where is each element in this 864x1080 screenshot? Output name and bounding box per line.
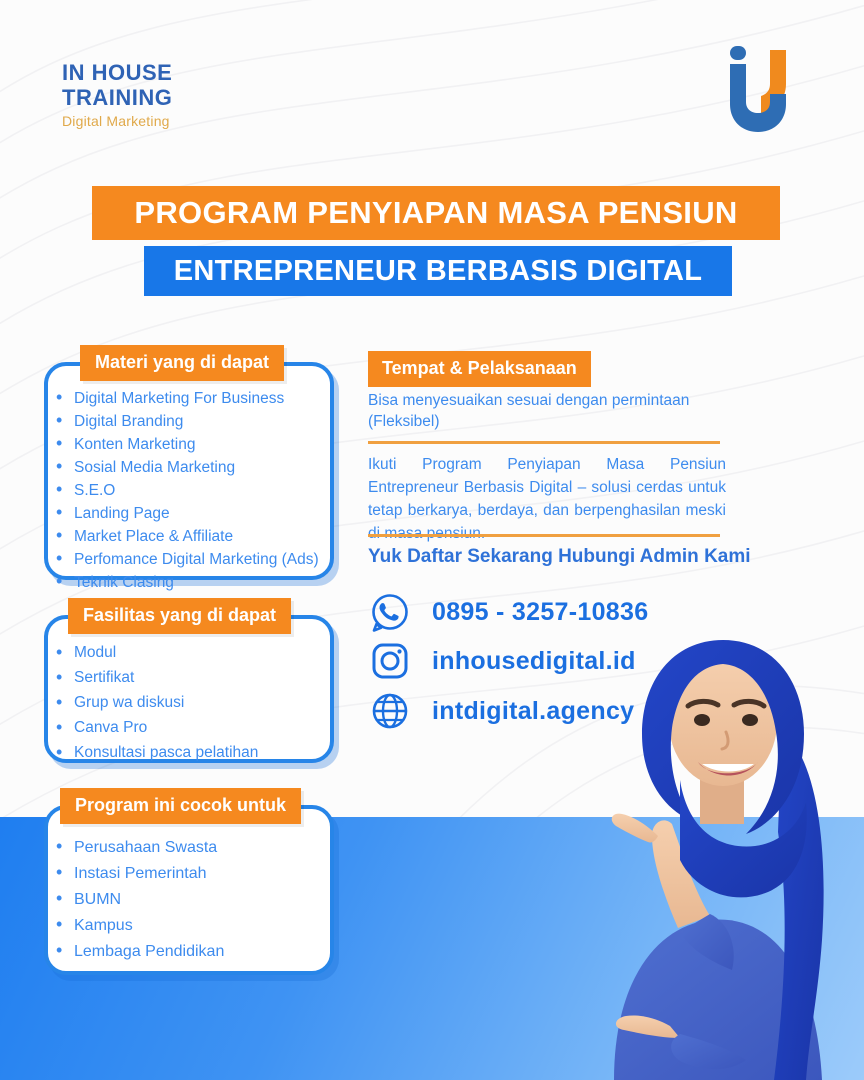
list-item: Konsultasi pasca pelatihan	[52, 741, 332, 765]
list-item: BUMN	[52, 887, 332, 912]
list-item: Instasi Pemerintah	[52, 861, 332, 886]
list-item: Sertifikat	[52, 666, 332, 690]
company-u-logo-icon	[726, 44, 790, 140]
list-item: Digital Marketing For Business	[52, 388, 332, 409]
globe-icon	[370, 691, 410, 731]
list-item: Perfomance Digital Marketing (Ads)	[52, 549, 332, 570]
list-item: Teknik Clasing	[52, 572, 332, 593]
whatsapp-icon	[370, 592, 410, 632]
list-item: Digital Branding	[52, 411, 332, 432]
list-item: Konten Marketing	[52, 434, 332, 455]
brand-line-1: IN HOUSE	[62, 60, 172, 85]
materi-list: Digital Marketing For Business Digital B…	[52, 388, 332, 595]
instagram-icon	[370, 641, 410, 681]
list-item: Market Place & Affiliate	[52, 526, 332, 547]
headline-banner-secondary: ENTREPRENEUR BERBASIS DIGITAL	[144, 246, 732, 296]
list-item: Sosial Media Marketing	[52, 457, 332, 478]
divider-lower	[368, 534, 720, 537]
list-item: Kampus	[52, 913, 332, 938]
list-item: Modul	[52, 641, 332, 665]
card-fasilitas-badge: Fasilitas yang di dapat	[68, 598, 291, 634]
divider-upper	[368, 441, 720, 444]
venue-description: Bisa menyesuaikan sesuai dengan perminta…	[368, 390, 726, 432]
list-item: S.E.O	[52, 480, 332, 501]
venue-badge: Tempat & Pelaksanaan	[368, 351, 591, 387]
card-materi-badge: Materi yang di dapat	[80, 345, 284, 381]
list-item: Canva Pro	[52, 716, 332, 740]
list-item: Landing Page	[52, 503, 332, 524]
brand-logotype: IN HOUSE TRAINING Digital Marketing	[62, 60, 172, 129]
program-target-list: Perusahaan Swasta Instasi Pemerintah BUM…	[52, 835, 332, 965]
brand-line-2: TRAINING	[62, 85, 172, 110]
program-intro-paragraph: Ikuti Program Penyiapan Masa Pensiun Ent…	[368, 453, 726, 545]
fasilitas-list: Modul Sertifikat Grup wa diskusi Canva P…	[52, 641, 332, 766]
brand-tagline: Digital Marketing	[62, 113, 172, 129]
list-item: Grup wa diskusi	[52, 691, 332, 715]
headline-banner-primary: PROGRAM PENYIAPAN MASA PENSIUN	[92, 186, 780, 240]
card-program-badge: Program ini cocok untuk	[60, 788, 301, 824]
list-item: Perusahaan Swasta	[52, 835, 332, 860]
list-item: Lembaga Pendidikan	[52, 939, 332, 964]
cta-headline: Yuk Daftar Sekarang Hubungi Admin Kami	[368, 546, 778, 568]
model-photo	[560, 610, 864, 1080]
